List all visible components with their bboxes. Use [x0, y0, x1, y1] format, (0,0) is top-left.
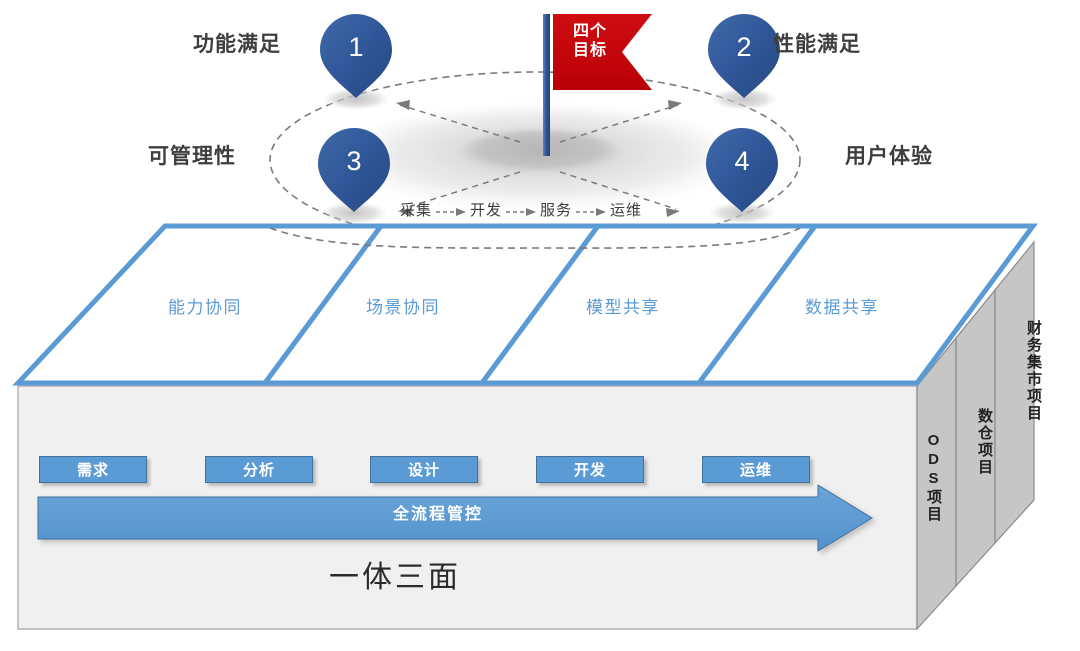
center-ellipse-stack	[340, 108, 740, 212]
top-panel-label-capability: 能力协同	[168, 293, 242, 318]
stage-button-requirement[interactable]: 需求	[39, 456, 147, 483]
process-chain: 采集 开发 服务 运维	[400, 198, 642, 220]
pin-number-3: 3	[328, 146, 380, 177]
diagram-canvas: 功能满足 性能满足 可管理性 用户体验 1 2 3 4 四个 目标 采集 开发 …	[0, 0, 1080, 651]
stage-button-analysis[interactable]: 分析	[205, 456, 313, 483]
goal-label-user-experience: 用户体验	[845, 140, 933, 170]
side-label-warehouse-project: 数仓项目	[974, 408, 995, 476]
flag-label-line2: 目标	[562, 41, 618, 60]
goal-label-functional: 功能满足	[193, 28, 281, 58]
flag-label: 四个 目标	[562, 22, 618, 60]
stage-button-development[interactable]: 开发	[536, 456, 644, 483]
bottom-title: 一体三面	[0, 552, 790, 596]
side-label-finance-mart-project: 财务集市项目	[1023, 320, 1044, 422]
pin-number-2: 2	[718, 32, 770, 63]
flag-label-line1: 四个	[562, 22, 618, 41]
process-step-develop: 开发	[470, 199, 502, 220]
process-step-collect: 采集	[400, 199, 432, 220]
top-panel-label-model: 模型共享	[586, 293, 660, 318]
process-arrow-1	[436, 204, 466, 214]
pin-number-4: 4	[716, 146, 768, 177]
process-step-operate: 运维	[610, 199, 642, 220]
process-step-service: 服务	[540, 199, 572, 220]
goal-label-performance: 性能满足	[773, 28, 861, 58]
goal-label-manageability: 可管理性	[148, 140, 236, 170]
pin-number-1: 1	[330, 32, 382, 63]
top-panel-label-scenario: 场景协同	[366, 293, 440, 318]
top-panel-label-data: 数据共享	[805, 293, 879, 318]
process-arrow-3	[576, 204, 606, 214]
stage-button-operations[interactable]: 运维	[702, 456, 810, 483]
process-arrow-2	[506, 204, 536, 214]
flow-arrow-label: 全流程管控	[38, 503, 838, 527]
stage-button-design[interactable]: 设计	[370, 456, 478, 483]
side-label-ods-project: ODS项目	[923, 432, 944, 523]
